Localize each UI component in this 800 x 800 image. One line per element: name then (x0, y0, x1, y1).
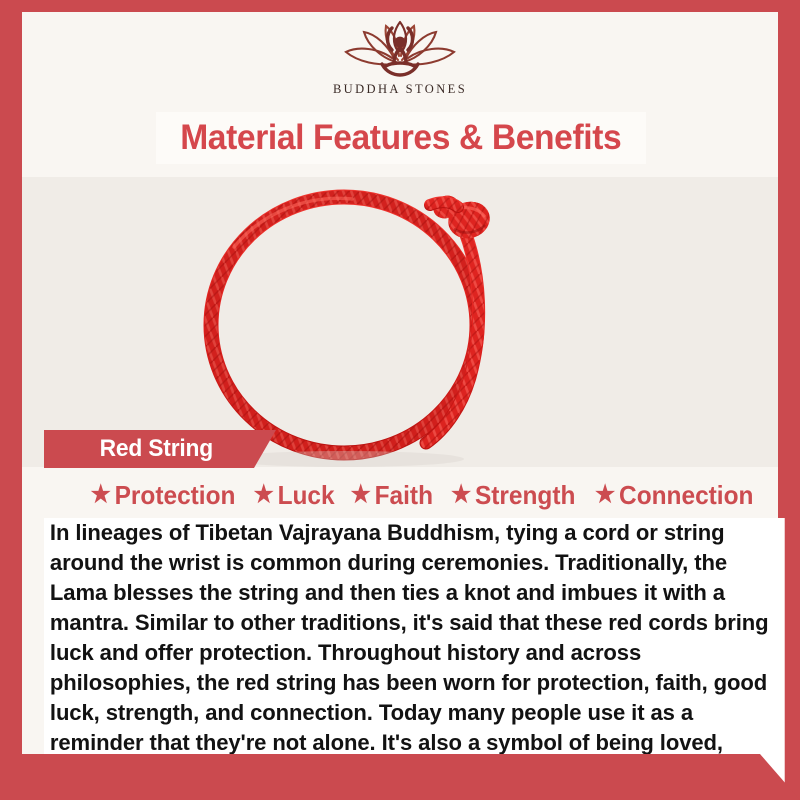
benefit-label: Connection (619, 480, 753, 511)
product-photo (22, 177, 778, 467)
benefit-luck: ★ Luck (249, 480, 338, 511)
star-icon: ★ (450, 483, 470, 507)
benefits-row: ★ Protection ★ Luck ★ Faith ★ Strength ★… (44, 477, 800, 513)
page-surface: BUDDHA STONES Material Features & Benefi… (22, 12, 778, 757)
brand-logo: BUDDHA STONES (22, 12, 778, 112)
brand-name: BUDDHA STONES (333, 82, 467, 97)
infographic-poster: BUDDHA STONES Material Features & Benefi… (0, 0, 800, 800)
frame-left-bar (0, 0, 22, 800)
benefit-strength: ★ Strength (447, 480, 579, 511)
benefit-label: Faith (374, 480, 432, 511)
product-label: Red String (48, 435, 213, 463)
star-icon: ★ (351, 483, 371, 507)
star-icon: ★ (595, 483, 615, 507)
red-string-bracelet-illustration (22, 177, 778, 467)
benefit-connection: ★ Connection (591, 480, 757, 511)
lotus-meditation-figure-icon (334, 18, 466, 80)
star-icon: ★ (90, 483, 110, 507)
star-icon: ★ (253, 483, 273, 507)
benefit-faith: ★ Faith (347, 480, 437, 511)
benefit-protection: ★ Protection (86, 480, 238, 511)
frame-bottom-bar (0, 754, 800, 800)
benefit-label: Luck (277, 480, 334, 511)
frame-top-bar (0, 0, 800, 12)
benefit-label: Protection (114, 480, 235, 511)
benefit-label: Strength (474, 480, 574, 511)
title-banner: Material Features & Benefits (156, 112, 646, 164)
product-label-banner: Red String (44, 430, 276, 468)
page-title: Material Features & Benefits (180, 118, 621, 158)
